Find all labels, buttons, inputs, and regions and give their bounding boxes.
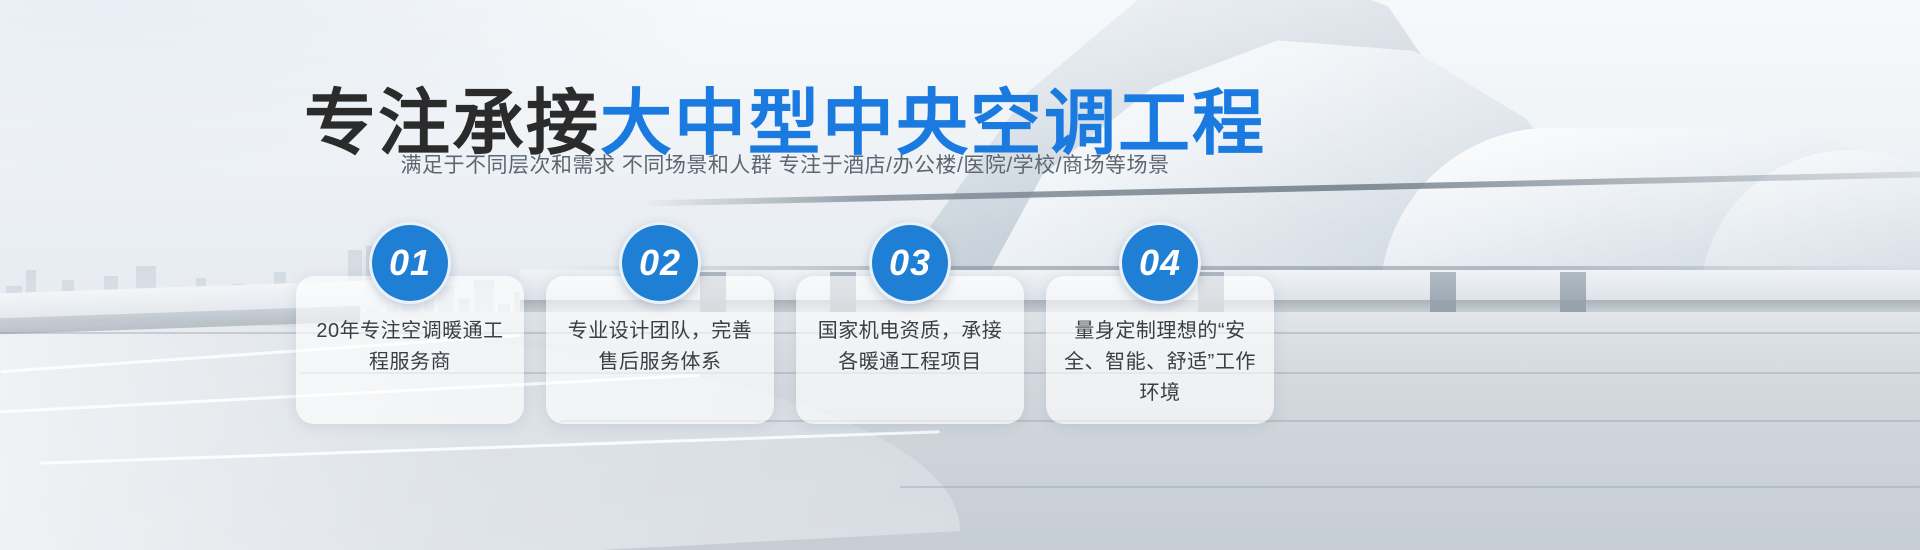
page-subtitle: 满足于不同层次和需求 不同场景和人群 专注于酒店/办公楼/医院/学校/商场等场景 [0,149,1570,179]
feature-card[interactable]: 01 20年专注空调暖通工程服务商 [296,276,524,424]
feature-card-text: 20年专注空调暖通工程服务商 [312,316,508,378]
feature-badge-02: 02 [619,222,701,304]
badge-number: 03 [889,242,931,284]
feature-card-text: 专业设计团队，完善售后服务体系 [562,316,758,378]
feature-card-text: 量身定制理想的“安全、智能、舒适”工作环境 [1062,316,1258,409]
banner-content: 专注承接大中型中央空调工程 满足于不同层次和需求 不同场景和人群 专注于酒店/办… [0,0,1920,550]
feature-badge-01: 01 [369,222,451,304]
feature-card[interactable]: 04 量身定制理想的“安全、智能、舒适”工作环境 [1046,276,1274,424]
feature-card[interactable]: 03 国家机电资质，承接各暖通工程项目 [796,276,1024,424]
badge-number: 02 [639,242,681,284]
badge-number: 04 [1139,242,1181,284]
feature-badge-03: 03 [869,222,951,304]
feature-card[interactable]: 02 专业设计团队，完善售后服务体系 [546,276,774,424]
feature-badge-04: 04 [1119,222,1201,304]
feature-card-list: 01 20年专注空调暖通工程服务商 02 专业设计团队，完善售后服务体系 03 … [296,276,1296,426]
badge-number: 01 [389,242,431,284]
hero-banner: 专注承接大中型中央空调工程 满足于不同层次和需求 不同场景和人群 专注于酒店/办… [0,0,1920,550]
feature-card-text: 国家机电资质，承接各暖通工程项目 [812,316,1008,378]
